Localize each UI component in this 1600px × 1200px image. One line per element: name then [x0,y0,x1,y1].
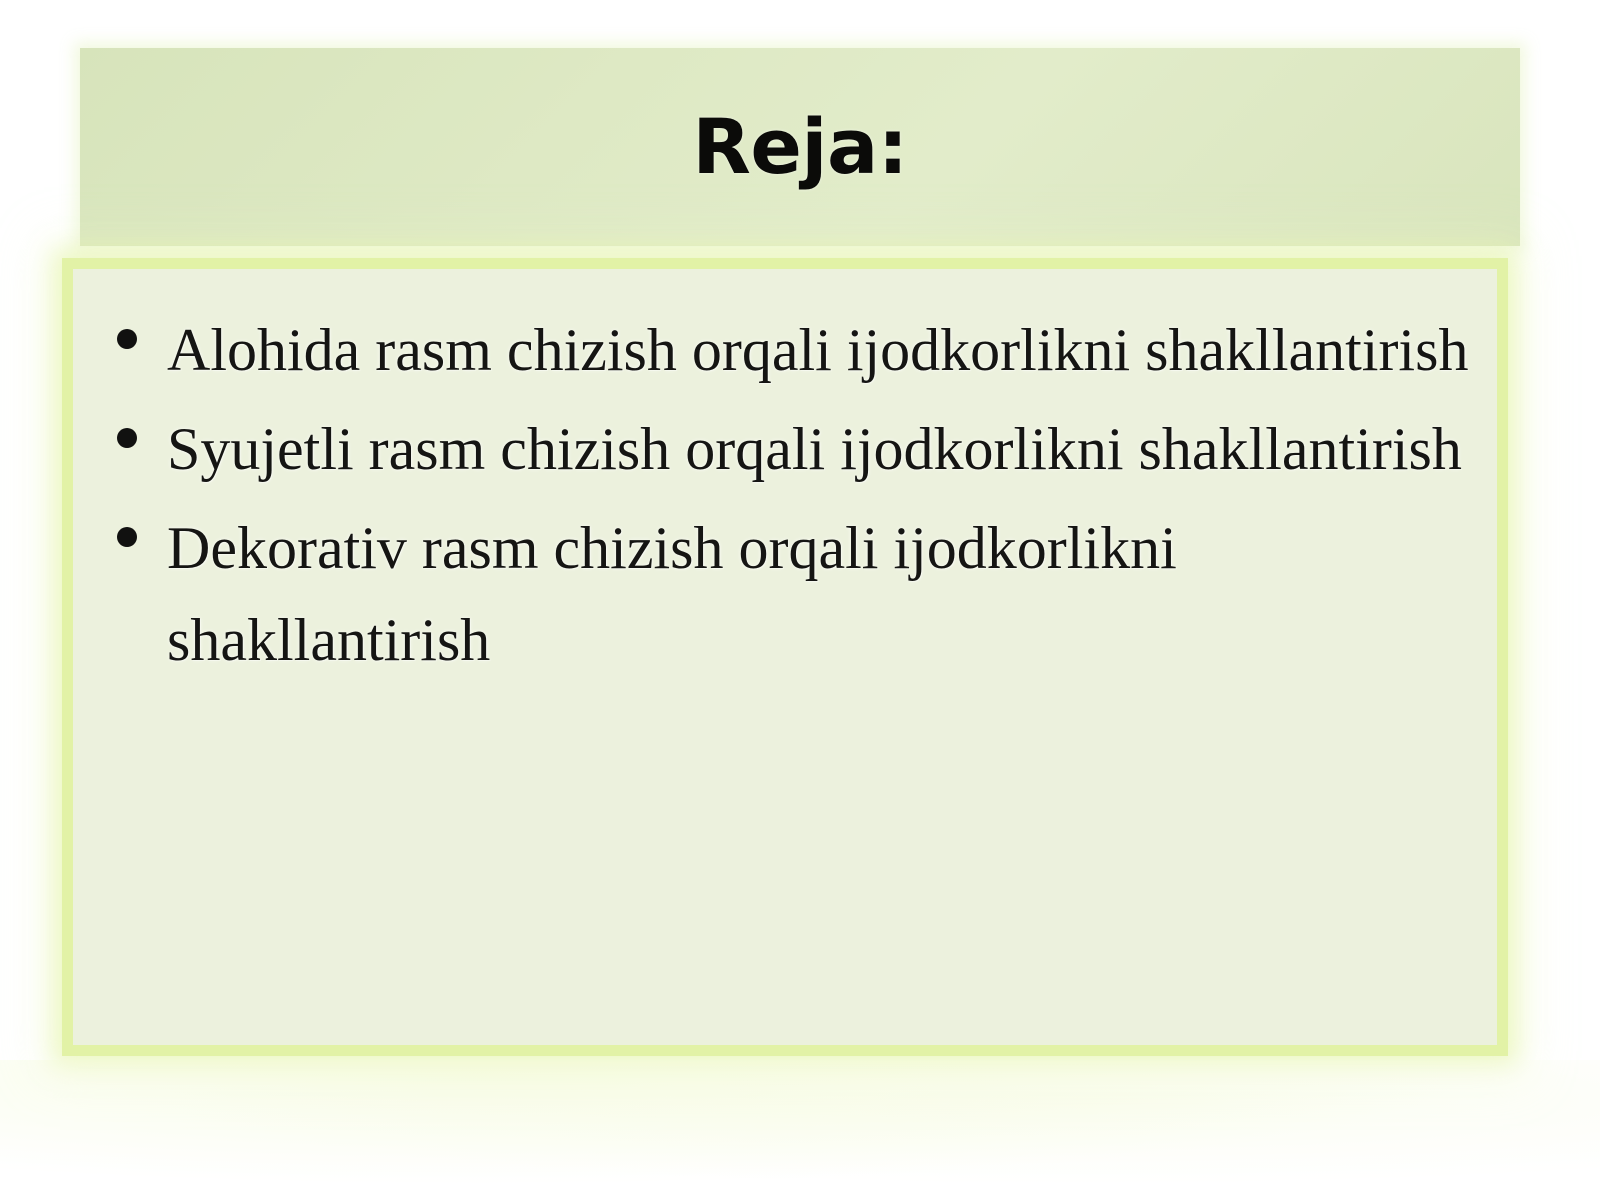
list-item: Syujetli rasm chizish orqali ijodkorlikn… [95,404,1489,495]
list-item-label: Alohida rasm chizish orqali ijodkorlikni… [167,305,1489,396]
list-item: Alohida rasm chizish orqali ijodkorlikni… [95,305,1489,396]
bullet-dot-icon [117,527,137,547]
bullet-dot-icon [117,329,137,349]
list-item: Dekorativ rasm chizish orqali ijodkorlik… [95,503,1489,685]
title-banner: Reja: [80,48,1520,246]
slide: Reja: Alohida rasm chizish orqali ijodko… [0,0,1600,1200]
content-panel: Alohida rasm chizish orqali ijodkorlikni… [62,258,1508,1056]
list-item-label: Syujetli rasm chizish orqali ijodkorlikn… [167,404,1489,495]
bullet-dot-icon [117,428,137,448]
list-item-label: Dekorativ rasm chizish orqali ijodkorlik… [167,503,1489,685]
bottom-glow [0,1060,1600,1200]
bullet-list: Alohida rasm chizish orqali ijodkorlikni… [73,269,1497,686]
page-title: Reja: [692,109,907,185]
